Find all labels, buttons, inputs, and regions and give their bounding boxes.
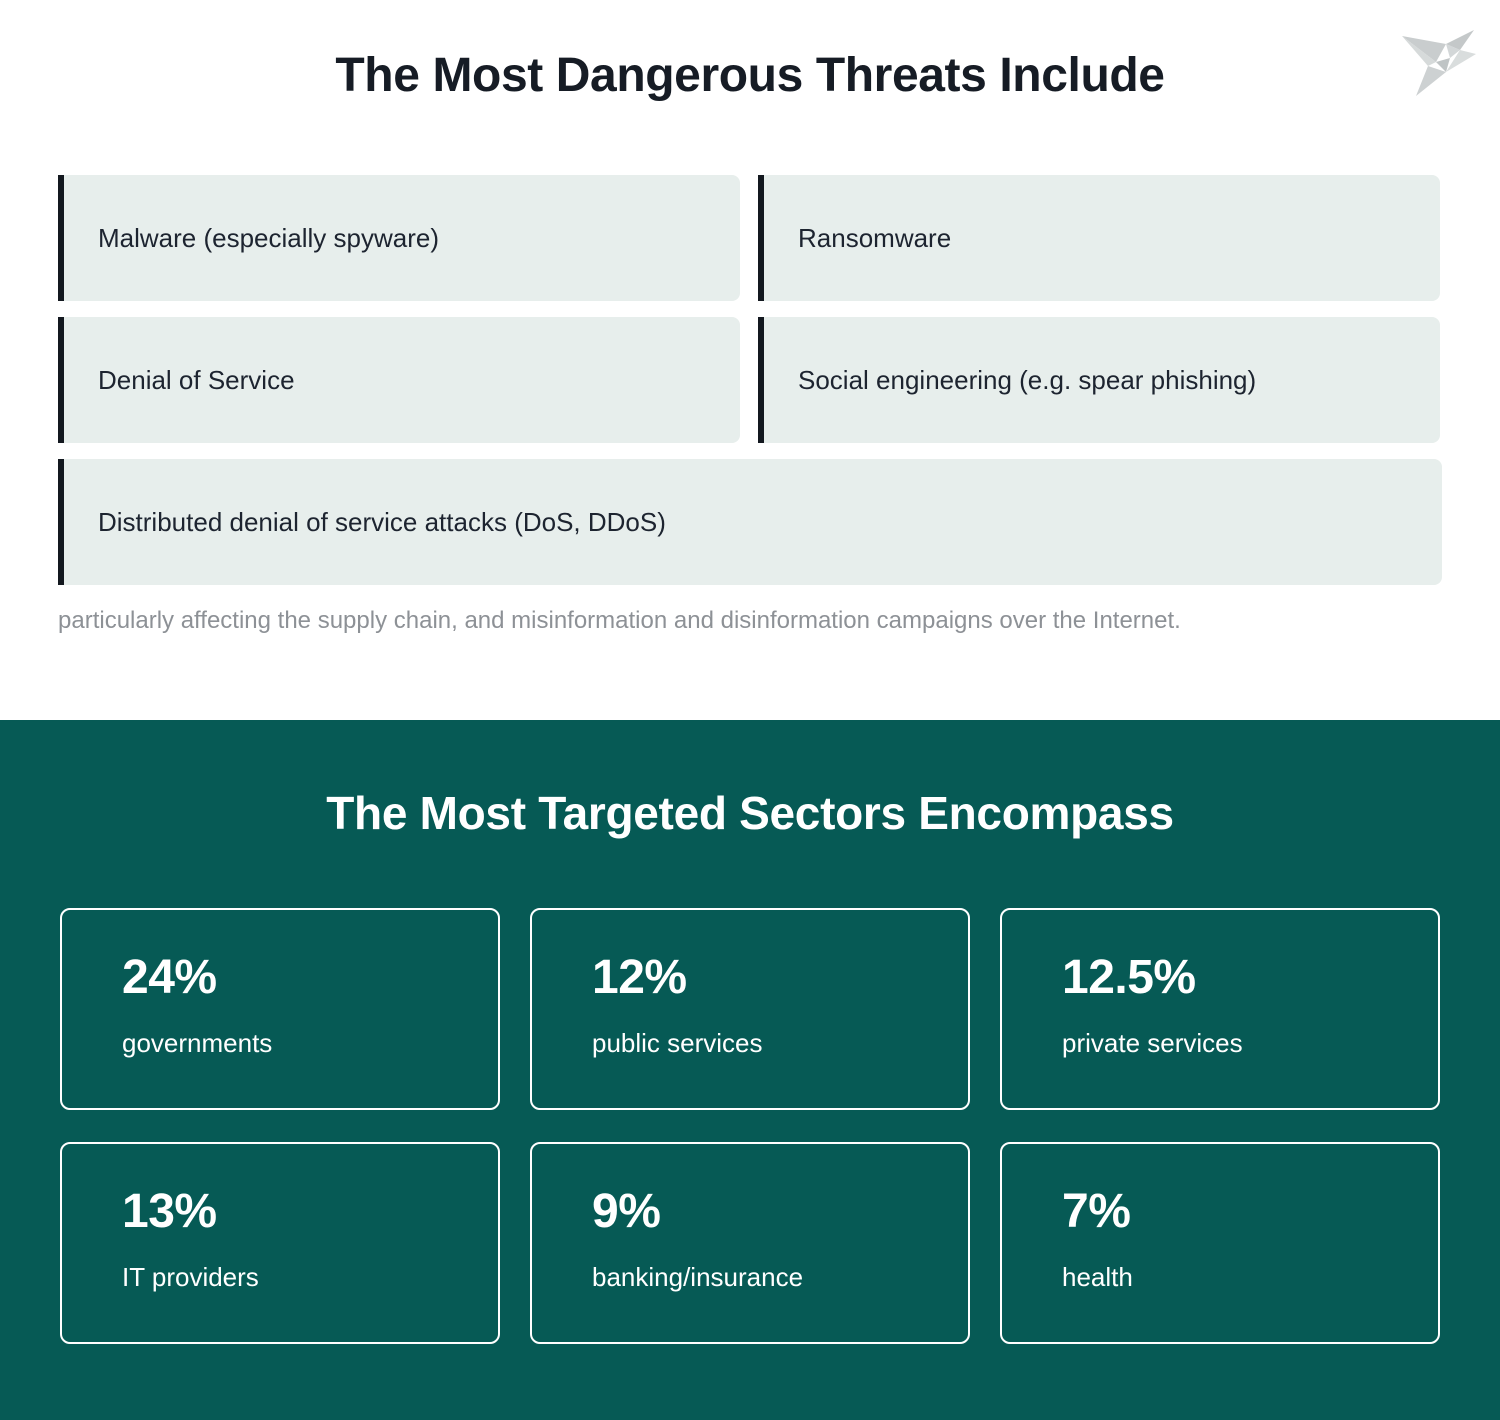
- threat-item-social-engineering: Social engineering (e.g. spear phishing): [758, 317, 1440, 443]
- threat-row: Malware (especially spyware) Ransomware: [58, 175, 1442, 301]
- infographic-page: The Most Dangerous Threats Include Malwa…: [0, 0, 1500, 1420]
- threat-item-label: Ransomware: [798, 222, 951, 255]
- threat-list: Malware (especially spyware) Ransomware …: [58, 175, 1442, 601]
- sector-card-label: private services: [1062, 1028, 1438, 1059]
- sector-card-it-providers: 13% IT providers: [60, 1142, 500, 1344]
- sector-card-label: governments: [122, 1028, 498, 1059]
- threat-item-label: Social engineering (e.g. spear phishing): [798, 364, 1256, 397]
- threat-row: Distributed denial of service attacks (D…: [58, 459, 1442, 585]
- threat-item-label: Distributed denial of service attacks (D…: [98, 506, 666, 539]
- page-title: The Most Dangerous Threats Include: [0, 48, 1500, 103]
- sector-card-private-services: 12.5% private services: [1000, 908, 1440, 1110]
- threat-item-denial-of-service: Denial of Service: [58, 317, 740, 443]
- sector-card-value: 24%: [122, 954, 498, 1002]
- sector-card-value: 12%: [592, 954, 968, 1002]
- threat-item-ddos: Distributed denial of service attacks (D…: [58, 459, 1442, 585]
- sector-card-governments: 24% governments: [60, 908, 500, 1110]
- sector-stat-grid: 24% governments 12% public services 12.5…: [60, 908, 1440, 1344]
- sector-card-value: 12.5%: [1062, 954, 1438, 1002]
- threat-row: Denial of Service Social engineering (e.…: [58, 317, 1442, 443]
- threat-item-ransomware: Ransomware: [758, 175, 1440, 301]
- threat-item-label: Malware (especially spyware): [98, 222, 439, 255]
- sector-card-banking-insurance: 9% banking/insurance: [530, 1142, 970, 1344]
- threat-item-malware: Malware (especially spyware): [58, 175, 740, 301]
- threat-item-label: Denial of Service: [98, 364, 295, 397]
- sector-card-label: health: [1062, 1262, 1438, 1293]
- sector-card-label: public services: [592, 1028, 968, 1059]
- sector-card-value: 7%: [1062, 1188, 1438, 1236]
- sector-card-value: 9%: [592, 1188, 968, 1236]
- threats-note: particularly affecting the supply chain,…: [58, 602, 1442, 639]
- sector-card-label: banking/insurance: [592, 1262, 968, 1293]
- sector-card-value: 13%: [122, 1188, 498, 1236]
- sector-card-label: IT providers: [122, 1262, 498, 1293]
- threats-section: The Most Dangerous Threats Include Malwa…: [0, 0, 1500, 720]
- sector-card-public-services: 12% public services: [530, 908, 970, 1110]
- sectors-title: The Most Targeted Sectors Encompass: [0, 786, 1500, 840]
- sector-card-health: 7% health: [1000, 1142, 1440, 1344]
- sectors-section: The Most Targeted Sectors Encompass 24% …: [0, 720, 1500, 1420]
